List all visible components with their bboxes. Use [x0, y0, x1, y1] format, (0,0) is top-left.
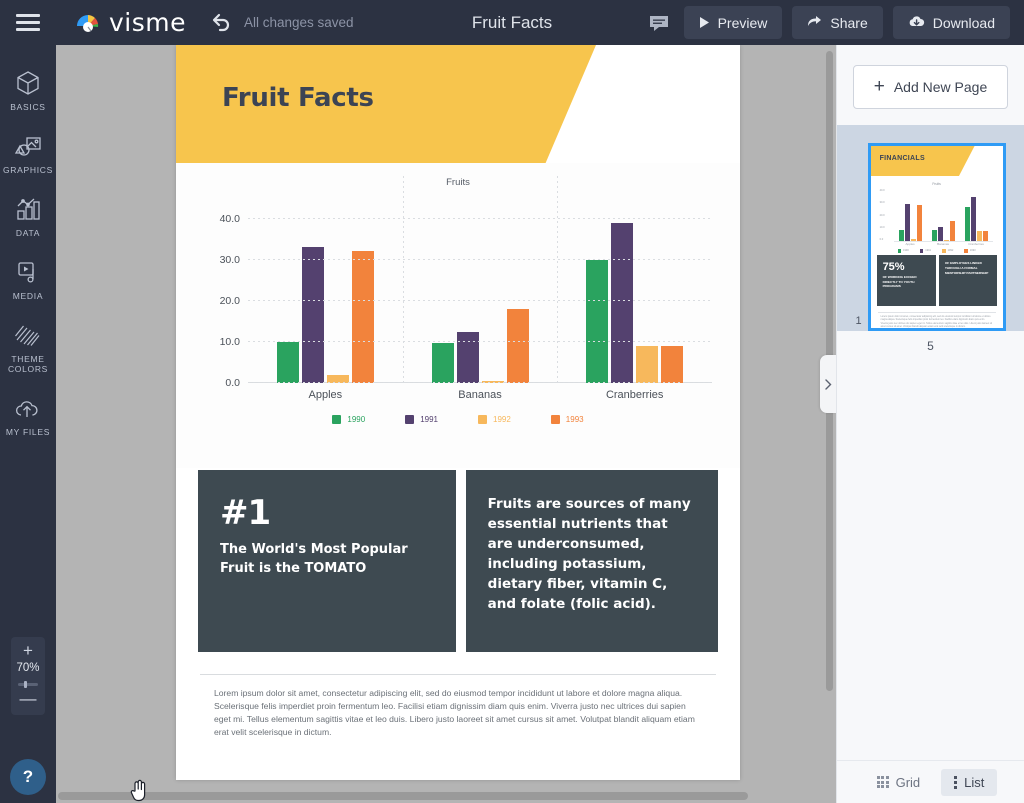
chart-bar[interactable]	[636, 346, 658, 383]
footer-paragraph: Lorem ipsum dolor sit amet, consectetur …	[214, 687, 702, 739]
preview-label: Preview	[718, 15, 768, 31]
chevron-right-icon	[825, 379, 832, 390]
download-label: Download	[933, 15, 995, 31]
thumb-bar-group	[927, 190, 960, 241]
play-icon	[699, 15, 710, 31]
thumb-card-right: OF EMPLOYEES LINKEDTHROUGH A FORMALMENTO…	[939, 255, 997, 306]
chart-bar-group	[248, 198, 403, 383]
thumb-legend-item: 1993	[964, 249, 975, 253]
thumb-card-number: 75%	[883, 261, 930, 273]
legend-swatch	[405, 415, 414, 424]
thumb-bar	[965, 207, 970, 241]
chart-gridline	[248, 341, 712, 342]
view-mode-toggle: Grid List	[837, 760, 1024, 803]
cube-icon	[14, 70, 42, 96]
chart-bar[interactable]	[277, 342, 299, 383]
thumb-y-axis: 40.030.020.010.00.0	[880, 189, 885, 241]
page-banner: Fruit Facts	[176, 45, 740, 163]
thumbnail-index: 1	[855, 315, 861, 331]
thumb-legend-item: 1991	[920, 249, 931, 253]
sidebar-label-graphics: GRAPHICS	[3, 165, 53, 175]
thumb-legend-item: 1992	[942, 249, 953, 253]
thumb-bar	[911, 239, 916, 241]
thumb-bar-group	[894, 190, 927, 241]
thumb-card-left: 75% OF WORKING EXCEEDDIRECTLY TO YOUTHPR…	[877, 255, 936, 306]
page-thumbnail-1[interactable]: FINANCIALS Fruits 40.030.020.010.00.0 Ap…	[868, 143, 1006, 331]
thumb-bar	[950, 221, 955, 241]
thumb-bar	[944, 240, 949, 241]
thumb-card-body: OF EMPLOYEES LINKEDTHROUGH A FORMALMENTO…	[945, 261, 991, 275]
thumb-bar	[905, 204, 910, 241]
add-new-page-button[interactable]: + Add New Page	[853, 65, 1008, 109]
top-toolbar: visme All changes saved Fruit Facts	[0, 0, 1024, 45]
bar-chart-icon	[14, 196, 42, 222]
chart-x-labels: ApplesBananasCranberries	[248, 389, 712, 401]
canvas-horizontal-scrollbar[interactable]	[56, 789, 836, 803]
zoom-slider[interactable]	[18, 683, 38, 686]
sidebar-item-graphics[interactable]: GRAPHICS	[0, 122, 56, 185]
zoom-control: + 70% —	[11, 637, 45, 715]
download-button[interactable]: Download	[893, 6, 1010, 39]
chart-bar[interactable]	[432, 343, 454, 383]
zoom-in-button[interactable]: +	[23, 645, 33, 657]
thumb-bar-group	[960, 190, 993, 241]
thumb-legend-label: 1993	[970, 249, 976, 252]
list-view-button[interactable]: List	[941, 769, 997, 796]
chart-bar[interactable]	[457, 332, 479, 383]
share-button[interactable]: Share	[792, 6, 882, 39]
sidebar-label-media: MEDIA	[13, 291, 43, 301]
legend-label: 1993	[566, 415, 584, 424]
thumb-legend-label: 1990	[903, 249, 909, 252]
thumb-x-label: Cranberries	[960, 242, 993, 246]
thumb-cards: 75% OF WORKING EXCEEDDIRECTLY TO YOUTHPR…	[871, 255, 1003, 306]
thumb-bar	[983, 231, 988, 241]
sidebar-item-theme-colors[interactable]: THEMECOLORS	[0, 311, 56, 384]
thumb-legend: 1990199119921993	[881, 249, 993, 253]
thumb-legend-swatch	[942, 249, 946, 253]
thumb-legend-swatch	[964, 249, 968, 253]
add-page-section: + Add New Page	[837, 45, 1024, 125]
video-play-icon	[14, 259, 42, 285]
zoom-out-button[interactable]: —	[20, 693, 37, 705]
fact-card-right[interactable]: Fruits are sources of many essential nut…	[466, 470, 718, 652]
grid-view-button[interactable]: Grid	[864, 769, 934, 796]
thumb-legend-label: 1991	[925, 249, 931, 252]
fact-number: #1	[220, 494, 434, 532]
sidebar-item-data[interactable]: DATA	[0, 185, 56, 248]
visme-editor: visme All changes saved Fruit Facts	[0, 0, 1024, 803]
footer-divider	[200, 674, 716, 675]
thumb-legend-swatch	[920, 249, 924, 253]
list-icon	[954, 776, 957, 789]
chart-y-tick-label: 0.0	[225, 377, 240, 389]
sidebar-item-my-files[interactable]: MY FILES	[0, 384, 56, 447]
thumb-bar	[899, 230, 904, 241]
fact-body-text: Fruits are sources of many essential nut…	[488, 494, 696, 614]
chart-bar[interactable]	[302, 247, 324, 383]
chart-gridline	[248, 300, 712, 301]
help-button[interactable]: ?	[10, 759, 46, 795]
thumb-legend-label: 1992	[948, 249, 954, 252]
thumb-bar	[917, 205, 922, 241]
horizontal-scroll-thumb[interactable]	[58, 792, 748, 800]
page-thumbnail-list: 1 FINANCIALS Fruits 40.030.020.010.00.0 …	[837, 125, 1024, 331]
toolbar-actions: Preview Share Download	[646, 6, 1024, 39]
banner-title: Fruit Facts	[222, 83, 374, 113]
chart-bar[interactable]	[586, 260, 608, 383]
chart-x-tick-label: Apples	[248, 389, 403, 401]
thumb-card-sub: OF WORKING EXCEEDDIRECTLY TO YOUTHPROGRA…	[883, 275, 930, 289]
thumb-bar	[977, 231, 982, 241]
thumb-banner-title: FINANCIALS	[880, 155, 925, 162]
chart-legend-item[interactable]: 1992	[478, 415, 511, 424]
chart-gridline	[248, 218, 712, 219]
thumbnail-row: 1 FINANCIALS Fruits 40.030.020.010.00.0 …	[837, 143, 1024, 331]
chart-group-separator	[403, 176, 404, 383]
visme-mark-icon	[76, 12, 102, 34]
plus-icon: +	[874, 78, 885, 96]
chart-y-tick-label: 10.0	[220, 336, 240, 348]
chart-y-tick-label: 40.0	[220, 213, 240, 225]
legend-label: 1991	[420, 415, 438, 424]
panel-collapse-handle[interactable]	[820, 355, 836, 413]
thumb-x-labels: ApplesBananasCranberries	[894, 242, 993, 246]
canvas-workspace[interactable]: Fruit Facts Fruits 0.010.020.030.040.0 A…	[56, 45, 836, 803]
thumb-x-label: Bananas	[927, 242, 960, 246]
legend-swatch	[478, 415, 487, 424]
shapes-image-icon	[14, 133, 42, 159]
thumb-bar	[971, 197, 976, 241]
add-new-page-label: Add New Page	[894, 79, 987, 95]
fact-card-left[interactable]: #1 The World's Most PopularFruit is the …	[198, 470, 456, 652]
brand-logo[interactable]: visme	[76, 8, 186, 37]
bar-chart[interactable]: Fruits 0.010.020.030.040.0 ApplesBananas…	[176, 163, 740, 468]
chart-bar[interactable]	[611, 223, 633, 383]
chart-bar[interactable]	[507, 309, 529, 383]
thumb-plot	[894, 190, 993, 242]
chart-y-tick-label: 30.0	[220, 254, 240, 266]
legend-label: 1990	[347, 415, 365, 424]
sidebar-label-basics: BASICS	[10, 102, 45, 112]
thumb-chart: Fruits 40.030.020.010.00.0 ApplesBananas…	[871, 176, 1003, 252]
sidebar-label-my-files: MY FILES	[6, 427, 50, 437]
page-count-label: 5	[837, 339, 1024, 353]
cloud-upload-icon	[14, 395, 42, 421]
diagonal-lines-icon	[14, 322, 42, 348]
chart-bar-group	[403, 198, 558, 383]
thumb-chart-title: Fruits	[881, 182, 993, 186]
grid-icon	[877, 776, 889, 788]
chart-legend-item[interactable]: 1990	[332, 415, 365, 424]
legend-label: 1992	[493, 415, 511, 424]
sidebar-label-data: DATA	[16, 228, 40, 238]
thumb-legend-swatch	[898, 249, 902, 253]
comment-icon[interactable]	[646, 10, 672, 36]
chart-legend-item[interactable]: 1993	[551, 415, 584, 424]
chart-gridline	[248, 382, 712, 383]
share-arrow-icon	[807, 15, 822, 31]
undo-icon[interactable]	[208, 10, 234, 36]
chart-title: Fruits	[176, 163, 740, 188]
cloud-download-icon	[908, 15, 925, 31]
thumb-legend-item: 1990	[898, 249, 909, 253]
fact-subtitle: The World's Most PopularFruit is the TOM…	[220, 540, 434, 578]
chart-legend: 1990199119921993	[176, 415, 740, 424]
thumb-bar	[938, 227, 943, 241]
fact-cards: #1 The World's Most PopularFruit is the …	[176, 470, 740, 652]
chart-gridline	[248, 259, 712, 260]
chart-x-tick-label: Cranberries	[557, 389, 712, 401]
sidebar-label-theme-colors: THEMECOLORS	[8, 354, 48, 374]
pages-panel: + Add New Page 1 FINANCIALS Fruits 40.03…	[836, 45, 1024, 803]
chart-y-tick-label: 20.0	[220, 295, 240, 307]
chart-bars	[248, 198, 712, 383]
hamburger-icon[interactable]	[0, 0, 56, 45]
zoom-level-value: 70%	[16, 662, 39, 674]
chart-x-tick-label: Bananas	[403, 389, 558, 401]
chart-bar-group	[557, 198, 712, 383]
brand-name: visme	[109, 8, 186, 37]
preview-button[interactable]: Preview	[684, 6, 783, 39]
legend-swatch	[332, 415, 341, 424]
thumb-x-label: Apples	[894, 242, 927, 246]
thumb-divider	[878, 312, 996, 313]
chart-bar[interactable]	[352, 251, 374, 383]
share-label: Share	[830, 15, 867, 31]
left-sidebar: BASICS GRAPHICS	[0, 45, 56, 803]
thumb-footer-text: Lorem ipsum dolor sit amet, consectetur …	[881, 316, 993, 330]
chart-group-separator	[557, 176, 558, 383]
thumb-banner: FINANCIALS	[871, 146, 1003, 176]
legend-swatch	[551, 415, 560, 424]
chart-bar[interactable]	[661, 346, 683, 383]
chart-legend-item[interactable]: 1991	[405, 415, 438, 424]
grid-view-label: Grid	[896, 775, 921, 790]
sidebar-item-media[interactable]: MEDIA	[0, 248, 56, 311]
sidebar-item-basics[interactable]: BASICS	[0, 59, 56, 122]
save-status: All changes saved	[244, 15, 354, 30]
document-page[interactable]: Fruit Facts Fruits 0.010.020.030.040.0 A…	[176, 45, 740, 780]
chart-plot-area: 0.010.020.030.040.0	[248, 198, 712, 383]
thumb-bar	[932, 230, 937, 241]
list-view-label: List	[964, 775, 984, 790]
